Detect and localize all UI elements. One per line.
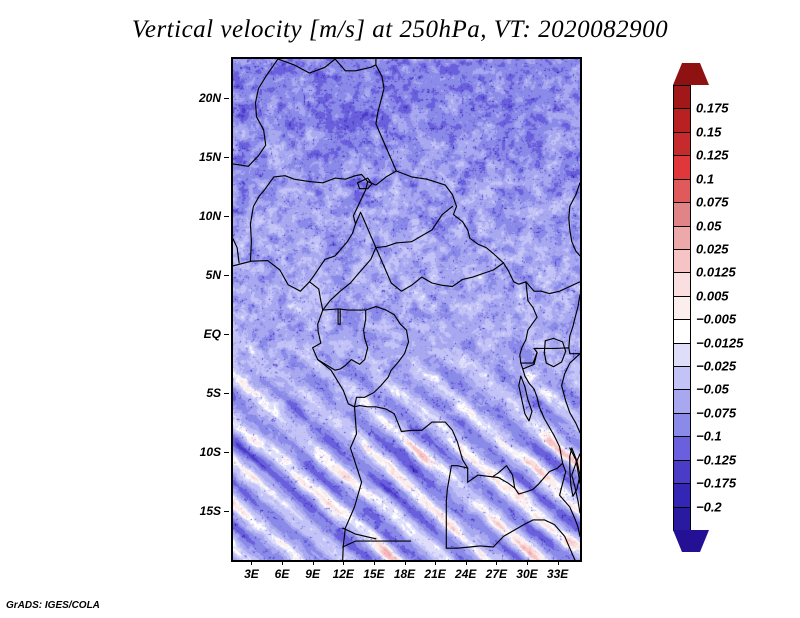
colorbar-tick-label: −0.175 xyxy=(696,476,736,491)
colorbar-swatch xyxy=(673,108,691,132)
colorbar-tick-label: −0.2 xyxy=(696,499,722,514)
y-tick xyxy=(224,393,229,394)
y-axis-label: 20N xyxy=(171,91,221,105)
y-tick xyxy=(224,216,229,217)
y-tick xyxy=(224,98,229,99)
y-tick xyxy=(224,511,229,512)
colorbar-tick-label: 0.025 xyxy=(696,241,729,256)
colorbar-tick-label: 0.15 xyxy=(696,124,721,139)
footer-credit: GrADS: IGES/COLA xyxy=(6,600,100,611)
x-tick xyxy=(282,560,283,565)
y-tick xyxy=(224,275,229,276)
x-axis-label: 15E xyxy=(363,567,384,581)
x-axis-label: 12E xyxy=(333,567,354,581)
x-axis-label: 6E xyxy=(275,567,290,581)
x-tick xyxy=(496,560,497,565)
colorbar-tick-label: 0.05 xyxy=(696,218,721,233)
x-axis-label: 30E xyxy=(516,567,537,581)
colorbar-swatch xyxy=(673,296,691,320)
map-plot-inner xyxy=(233,59,580,560)
colorbar-swatch xyxy=(673,483,691,507)
colorbar-swatch xyxy=(673,319,691,343)
colorbar-tick-label: 0.1 xyxy=(696,171,714,186)
y-axis-label: 10N xyxy=(171,209,221,223)
colorbar-swatch xyxy=(673,85,691,109)
x-tick xyxy=(405,560,406,565)
colorbar-swatch xyxy=(673,179,691,203)
colorbar-swatch xyxy=(673,249,691,273)
colorbar-over-arrow xyxy=(673,63,709,85)
colorbar-tick-label: −0.1 xyxy=(696,429,722,444)
colorbar-tick-label: 0.175 xyxy=(696,101,729,116)
y-axis-label: 15N xyxy=(171,150,221,164)
colorbar-tick-label: −0.0125 xyxy=(696,335,743,350)
y-tick xyxy=(224,452,229,453)
colorbar-swatch xyxy=(673,343,691,367)
colorbar-swatch xyxy=(673,155,691,179)
colorbar-swatch xyxy=(673,272,691,296)
colorbar-swatch xyxy=(673,413,691,437)
x-axis-label: 3E xyxy=(244,567,259,581)
x-axis-label: 33E xyxy=(547,567,568,581)
colorbar-swatch xyxy=(673,389,691,413)
x-tick xyxy=(527,560,528,565)
x-tick xyxy=(435,560,436,565)
vertical-velocity-field xyxy=(233,59,580,560)
colorbar-swatch xyxy=(673,507,691,531)
colorbar-swatch xyxy=(673,436,691,460)
x-axis-label: 24E xyxy=(455,567,476,581)
grads-plot-page: Vertical velocity [m/s] at 250hPa, VT: 2… xyxy=(0,0,800,618)
x-tick xyxy=(466,560,467,565)
x-tick xyxy=(374,560,375,565)
y-tick xyxy=(224,157,229,158)
map-plot-area xyxy=(231,57,582,562)
x-axis-label: 27E xyxy=(486,567,507,581)
colorbar-tick-label: 0.0125 xyxy=(696,265,736,280)
x-tick xyxy=(558,560,559,565)
x-axis-label: 21E xyxy=(424,567,445,581)
colorbar-tick-label: 0.075 xyxy=(696,195,729,210)
colorbar-tick-label: −0.025 xyxy=(696,359,736,374)
x-tick xyxy=(343,560,344,565)
colorbar-tick-label: −0.075 xyxy=(696,405,736,420)
colorbar-tick-label: −0.05 xyxy=(696,382,729,397)
y-axis-label: 15S xyxy=(171,504,221,518)
colorbar-tick-label: −0.125 xyxy=(696,452,736,467)
colorbar xyxy=(673,63,691,558)
y-axis-label: 5S xyxy=(171,386,221,400)
colorbar-under-arrow xyxy=(673,530,709,552)
y-axis-label: EQ xyxy=(171,327,221,341)
colorbar-tick-label: 0.125 xyxy=(696,148,729,163)
colorbar-tick-label: −0.005 xyxy=(696,312,736,327)
x-tick xyxy=(251,560,252,565)
colorbar-swatch xyxy=(673,366,691,390)
x-axis-label: 9E xyxy=(305,567,320,581)
x-axis-label: 18E xyxy=(394,567,415,581)
y-tick xyxy=(224,334,229,335)
colorbar-swatch xyxy=(673,460,691,484)
x-tick xyxy=(313,560,314,565)
colorbar-swatch xyxy=(673,132,691,156)
page-title: Vertical velocity [m/s] at 250hPa, VT: 2… xyxy=(0,16,800,44)
colorbar-swatch xyxy=(673,202,691,226)
y-axis-label: 5N xyxy=(171,268,221,282)
colorbar-swatch xyxy=(673,226,691,250)
colorbar-tick-label: 0.005 xyxy=(696,288,729,303)
y-axis-label: 10S xyxy=(171,445,221,459)
